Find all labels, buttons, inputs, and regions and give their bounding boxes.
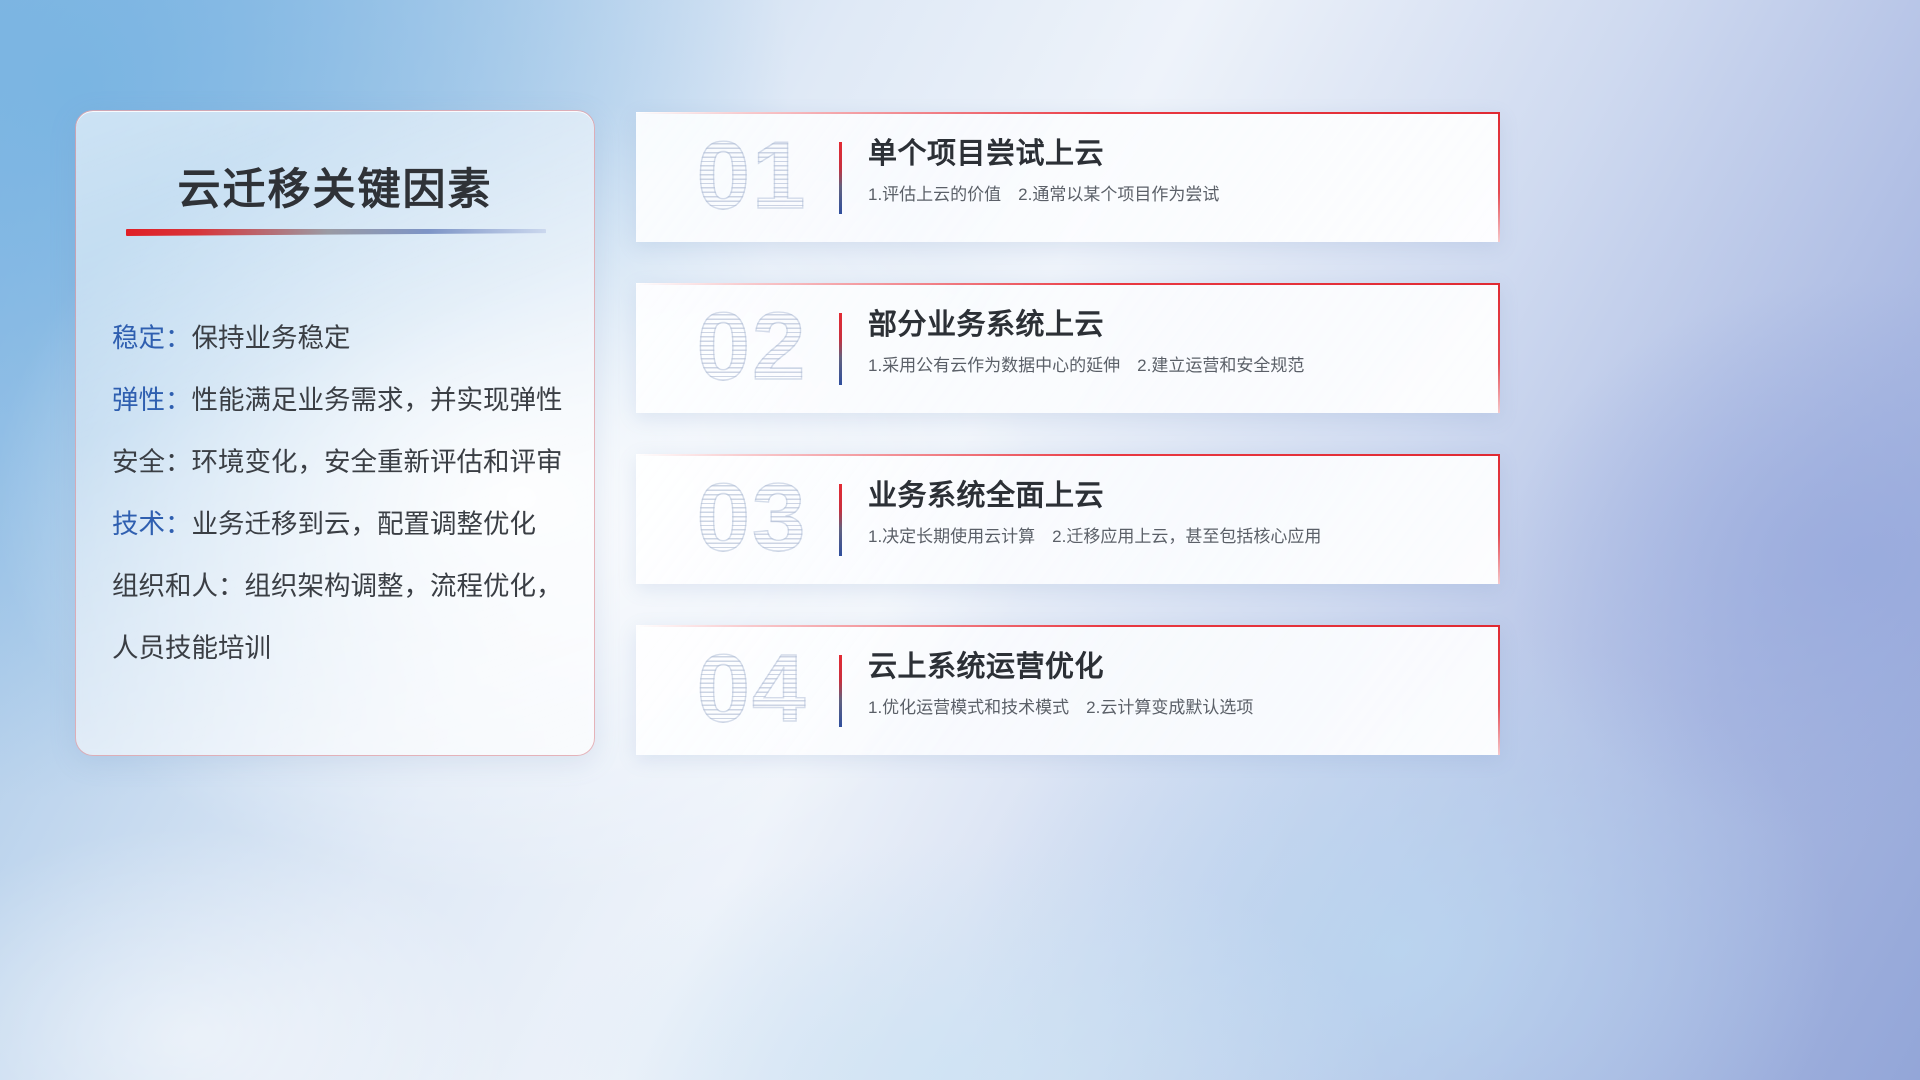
stage-title: 部分业务系统上云 [868,305,1466,345]
stage-number: 01 [666,112,838,242]
stage-title: 单个项目尝试上云 [868,134,1466,174]
factor-row: 稳定：保持业务稳定 [112,307,570,369]
stage-body: 单个项目尝试上云1.评估上云的价值 2.通常以某个项目作为尝试 [868,134,1466,207]
factor-text-continuation: 人员技能培训 [112,617,570,679]
stage-body: 部分业务系统上云1.采用公有云作为数据中心的延伸 2.建立运营和安全规范 [868,305,1466,378]
key-factors-panel: 云迁移关键因素 稳定：保持业务稳定弹性：性能满足业务需求，并实现弹性安全：环境变… [75,110,595,756]
stage-card[interactable]: 04云上系统运营优化1.优化运营模式和技术模式 2.云计算变成默认选项 [636,625,1500,755]
stage-number: 02 [666,283,838,413]
factor-text: 环境变化，安全重新评估和评审 [192,447,563,477]
stage-description: 1.采用公有云作为数据中心的延伸 2.建立运营和安全规范 [868,354,1466,378]
factor-row: 技术：业务迁移到云，配置调整优化 [112,493,570,555]
stage-title: 业务系统全面上云 [868,476,1466,516]
factor-text: 业务迁移到云，配置调整优化 [192,509,537,539]
stage-body: 业务系统全面上云1.决定长期使用云计算 2.迁移应用上云，甚至包括核心应用 [868,476,1466,549]
stage-accent-bar [839,313,842,385]
factor-text: 性能满足业务需求，并实现弹性 [192,385,563,415]
stage-accent-bar [839,655,842,727]
factor-label: 组织和人： [112,571,245,601]
factor-label: 技术： [112,509,192,539]
page-title: 云迁移关键因素 [76,155,594,217]
factor-text: 保持业务稳定 [192,323,351,353]
stage-accent-bar [839,142,842,214]
title-underline-accent [126,229,546,236]
factor-text: 组织架构调整，流程优化， [245,571,563,601]
factor-label: 稳定： [112,323,192,353]
factor-row: 组织和人：组织架构调整，流程优化， [112,555,570,617]
factor-label: 弹性： [112,385,192,415]
migration-stage-card-list: 01单个项目尝试上云1.评估上云的价值 2.通常以某个项目作为尝试02部分业务系… [636,112,1500,796]
factor-list: 稳定：保持业务稳定弹性：性能满足业务需求，并实现弹性安全：环境变化，安全重新评估… [112,307,570,679]
stage-description: 1.优化运营模式和技术模式 2.云计算变成默认选项 [868,696,1466,720]
stage-accent-bar [839,484,842,556]
stage-card[interactable]: 02部分业务系统上云1.采用公有云作为数据中心的延伸 2.建立运营和安全规范 [636,283,1500,413]
stage-title: 云上系统运营优化 [868,647,1466,687]
stage-description: 1.决定长期使用云计算 2.迁移应用上云，甚至包括核心应用 [868,525,1466,549]
factor-row: 弹性：性能满足业务需求，并实现弹性 [112,369,570,431]
factor-label: 安全： [112,447,192,477]
factor-row: 安全：环境变化，安全重新评估和评审 [112,431,570,493]
stage-body: 云上系统运营优化1.优化运营模式和技术模式 2.云计算变成默认选项 [868,647,1466,720]
stage-number: 04 [666,625,838,755]
stage-card[interactable]: 01单个项目尝试上云1.评估上云的价值 2.通常以某个项目作为尝试 [636,112,1500,242]
stage-description: 1.评估上云的价值 2.通常以某个项目作为尝试 [868,183,1466,207]
stage-card[interactable]: 03业务系统全面上云1.决定长期使用云计算 2.迁移应用上云，甚至包括核心应用 [636,454,1500,584]
stage-number: 03 [666,454,838,584]
